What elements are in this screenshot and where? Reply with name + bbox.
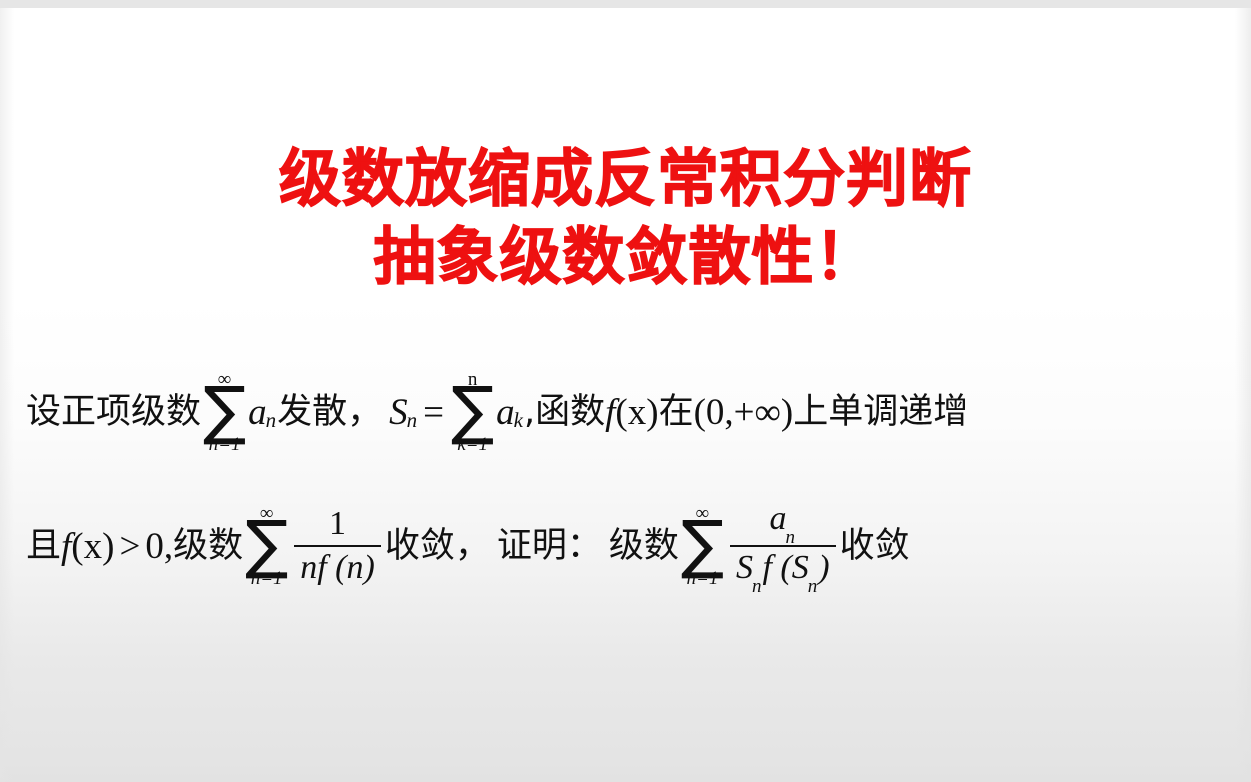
denominator-s: S [736,549,753,586]
sigma-icon: ∑ [203,387,246,437]
fraction-denominator: nf (n) [294,550,381,586]
summation-3-lower-limit: n=1 [251,569,283,588]
term-a-k-subscript: k [514,410,523,431]
text-monotonic-increasing: 上单调递增 [793,395,968,430]
fraction-bar [730,545,836,547]
fraction-numerator: 1 [323,506,352,542]
term-a: a [248,394,267,431]
summation-4-lower-limit: n=1 [687,569,719,588]
function-symbol-f-2: f [61,528,71,565]
top-grey-band [0,0,1251,8]
greater-than-sign: > [114,528,145,565]
sigma-icon: ∑ [451,387,494,437]
summation-3: ∞ ∑ n=1 [245,504,288,588]
problem-line-1: 设正项级数 ∞ ∑ n=1 an 发散， Sn = n ∑ k=1 ak ,函数… [26,352,1231,472]
title-line-1: 级数放缩成反常积分判断 [0,140,1251,218]
term-a-subscript: n [266,410,277,431]
denominator-close-paren: ) [818,549,829,586]
fraction-2-numerator-symbol: a [770,500,787,537]
fraction-2-denominator: Snf (Sn) [730,550,836,591]
title-block: 级数放缩成反常积分判断 抽象级数敛散性！ [0,140,1251,296]
equals-sign: = [418,394,449,431]
summation-2-lower-limit: k=1 [457,435,488,454]
text-series-1: 级数 [173,529,243,564]
title-line-2: 抽象级数敛散性！ [0,218,1251,296]
zero-value: 0, [145,528,173,565]
denominator-s-subscript: n [752,576,762,597]
term-a-k: a [496,394,515,431]
slide-canvas: 级数放缩成反常积分判断 抽象级数敛散性！ 设正项级数 ∞ ∑ n=1 an 发散… [0,0,1251,782]
text-series-2: 级数 [609,529,679,564]
fraction-an-over-snfsn: an Snf (Sn) [730,501,836,590]
partial-sum-symbol: S [389,394,408,431]
fraction-2-numerator: an [764,501,803,542]
sigma-icon: ∑ [681,521,724,571]
summation-1-lower-limit: n=1 [209,435,241,454]
function-symbol-f: f [605,394,615,431]
text-and: 且 [26,529,61,564]
text-set-positive-series: 设正项级数 [26,395,201,430]
denominator-f-open: f (S [762,549,808,586]
partial-sum-subscript: n [407,410,418,431]
problem-statement: 设正项级数 ∞ ∑ n=1 an 发散， Sn = n ∑ k=1 ak ,函数… [26,352,1231,606]
text-divergent: 发散， [277,395,382,430]
denominator-inner-subscript: n [808,576,818,597]
fraction-bar [294,545,381,547]
sigma-icon: ∑ [245,521,288,571]
text-on: 在 [659,395,694,430]
problem-line-2: 且 f(x) > 0, 级数 ∞ ∑ n=1 1 nf (n) 收敛， 证明： … [26,486,1231,606]
fraction-2-numerator-subscript: n [786,527,796,548]
summation-2: n ∑ k=1 [451,370,494,454]
interval-notation: (0,+∞) [694,394,794,431]
function-argument-2: (x) [71,528,114,565]
right-edge-shading [1235,8,1251,782]
left-edge-shading [0,8,14,782]
text-convergent-1: 收敛， [385,529,490,564]
summation-1: ∞ ∑ n=1 [203,370,246,454]
text-function: ,函数 [524,395,605,430]
text-convergent-2: 收敛 [840,529,910,564]
function-argument: (x) [615,394,658,431]
fraction-one-over-nfn: 1 nf (n) [294,506,381,585]
text-prove: 证明： [497,529,602,564]
summation-4: ∞ ∑ n=1 [681,504,724,588]
